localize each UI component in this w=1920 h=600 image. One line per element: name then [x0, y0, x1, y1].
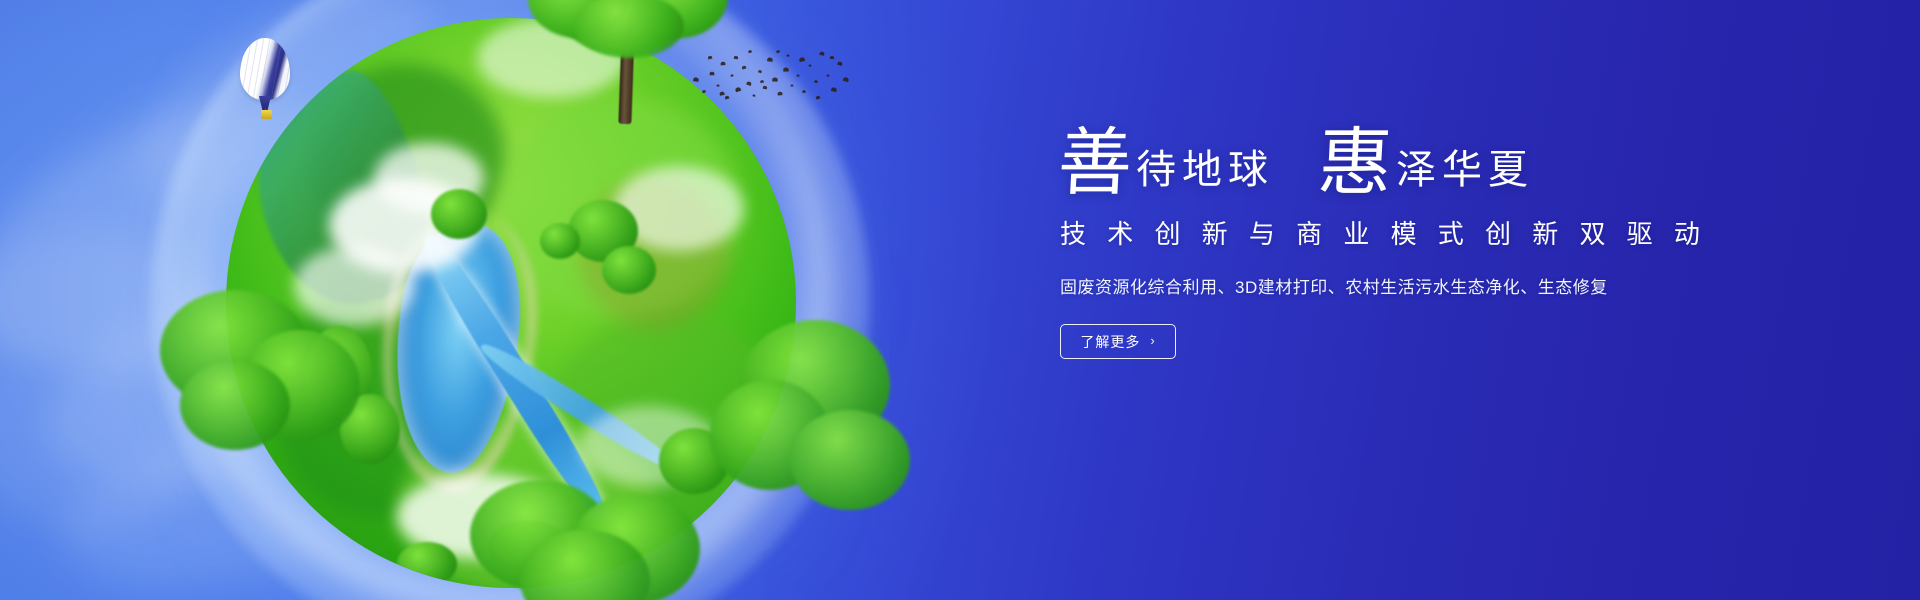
- bird-icon: [721, 62, 726, 66]
- headline-char-hui: 惠: [1316, 130, 1394, 198]
- bird-icon: [708, 55, 713, 59]
- bird-icon: [734, 56, 739, 60]
- bird-icon: [837, 61, 843, 66]
- bird-icon: [702, 90, 706, 93]
- hero-banner: 善 待地球 惠 泽华夏 技 术 创 新 与 商 业 模 式 创 新 双 驱 动 …: [0, 0, 1920, 600]
- bird-icon: [791, 84, 794, 86]
- bird-icon: [758, 70, 762, 73]
- bird-flock-icon: [690, 44, 850, 100]
- bird-icon: [819, 51, 824, 55]
- bird-icon: [799, 57, 805, 62]
- tree-clump: [431, 189, 487, 239]
- learn-more-label: 了解更多: [1080, 332, 1140, 352]
- bird-icon: [816, 95, 821, 99]
- bird-icon: [748, 50, 752, 53]
- bird-icon: [742, 65, 747, 69]
- rim-tree: [450, 480, 710, 600]
- bird-icon: [710, 72, 715, 76]
- bird-icon: [814, 80, 818, 83]
- bird-icon: [763, 86, 768, 90]
- rim-tree: [150, 270, 370, 470]
- bird-icon: [725, 95, 730, 99]
- bird-icon: [831, 87, 837, 92]
- bird-icon: [776, 50, 780, 54]
- bird-icon: [746, 81, 752, 86]
- learn-more-button[interactable]: 了解更多 ›: [1060, 324, 1176, 359]
- bird-icon: [843, 77, 849, 83]
- tree-clump: [540, 223, 580, 259]
- bird-icon: [767, 57, 773, 62]
- headline-char-shan: 善: [1056, 130, 1134, 198]
- balloon-basket: [261, 110, 272, 119]
- bird-icon: [830, 56, 834, 59]
- hot-air-balloon-icon: [240, 38, 296, 130]
- hero-subtitle: 技 术 创 新 与 商 业 模 式 创 新 双 驱 动: [1060, 214, 1678, 251]
- headline-text-daiqiu: 待地球: [1136, 150, 1274, 198]
- bird-icon: [730, 74, 733, 77]
- bird-icon: [772, 77, 778, 81]
- bird-icon: [693, 77, 699, 82]
- bird-icon: [735, 87, 741, 93]
- balloon-envelope: [240, 38, 290, 100]
- bird-icon: [717, 84, 720, 86]
- bird-icon: [719, 91, 724, 95]
- hero-description: 固废资源化综合利用、3D建材打印、农村生活污水生态净化、生态修复: [1060, 273, 1678, 298]
- bird-icon: [802, 90, 806, 93]
- bird-icon: [752, 94, 755, 97]
- bird-icon: [777, 92, 782, 96]
- headline-text-zehuaxia: 泽华夏: [1396, 150, 1534, 198]
- hero-content: 善 待地球 惠 泽华夏 技 术 创 新 与 商 业 模 式 创 新 双 驱 动 …: [1058, 130, 1678, 359]
- bird-icon: [826, 74, 829, 77]
- tree-canopy: [574, 0, 684, 58]
- bird-icon: [797, 74, 800, 76]
- bird-icon: [786, 54, 789, 57]
- tree-clump: [397, 542, 457, 586]
- tree-clump: [602, 246, 656, 294]
- rim-tree: [710, 310, 910, 520]
- bird-icon: [760, 80, 764, 83]
- page-title: 善 待地球 惠 泽华夏: [1058, 130, 1678, 198]
- bird-icon: [808, 64, 811, 66]
- chevron-right-icon: ›: [1150, 334, 1155, 347]
- bird-icon: [783, 67, 789, 71]
